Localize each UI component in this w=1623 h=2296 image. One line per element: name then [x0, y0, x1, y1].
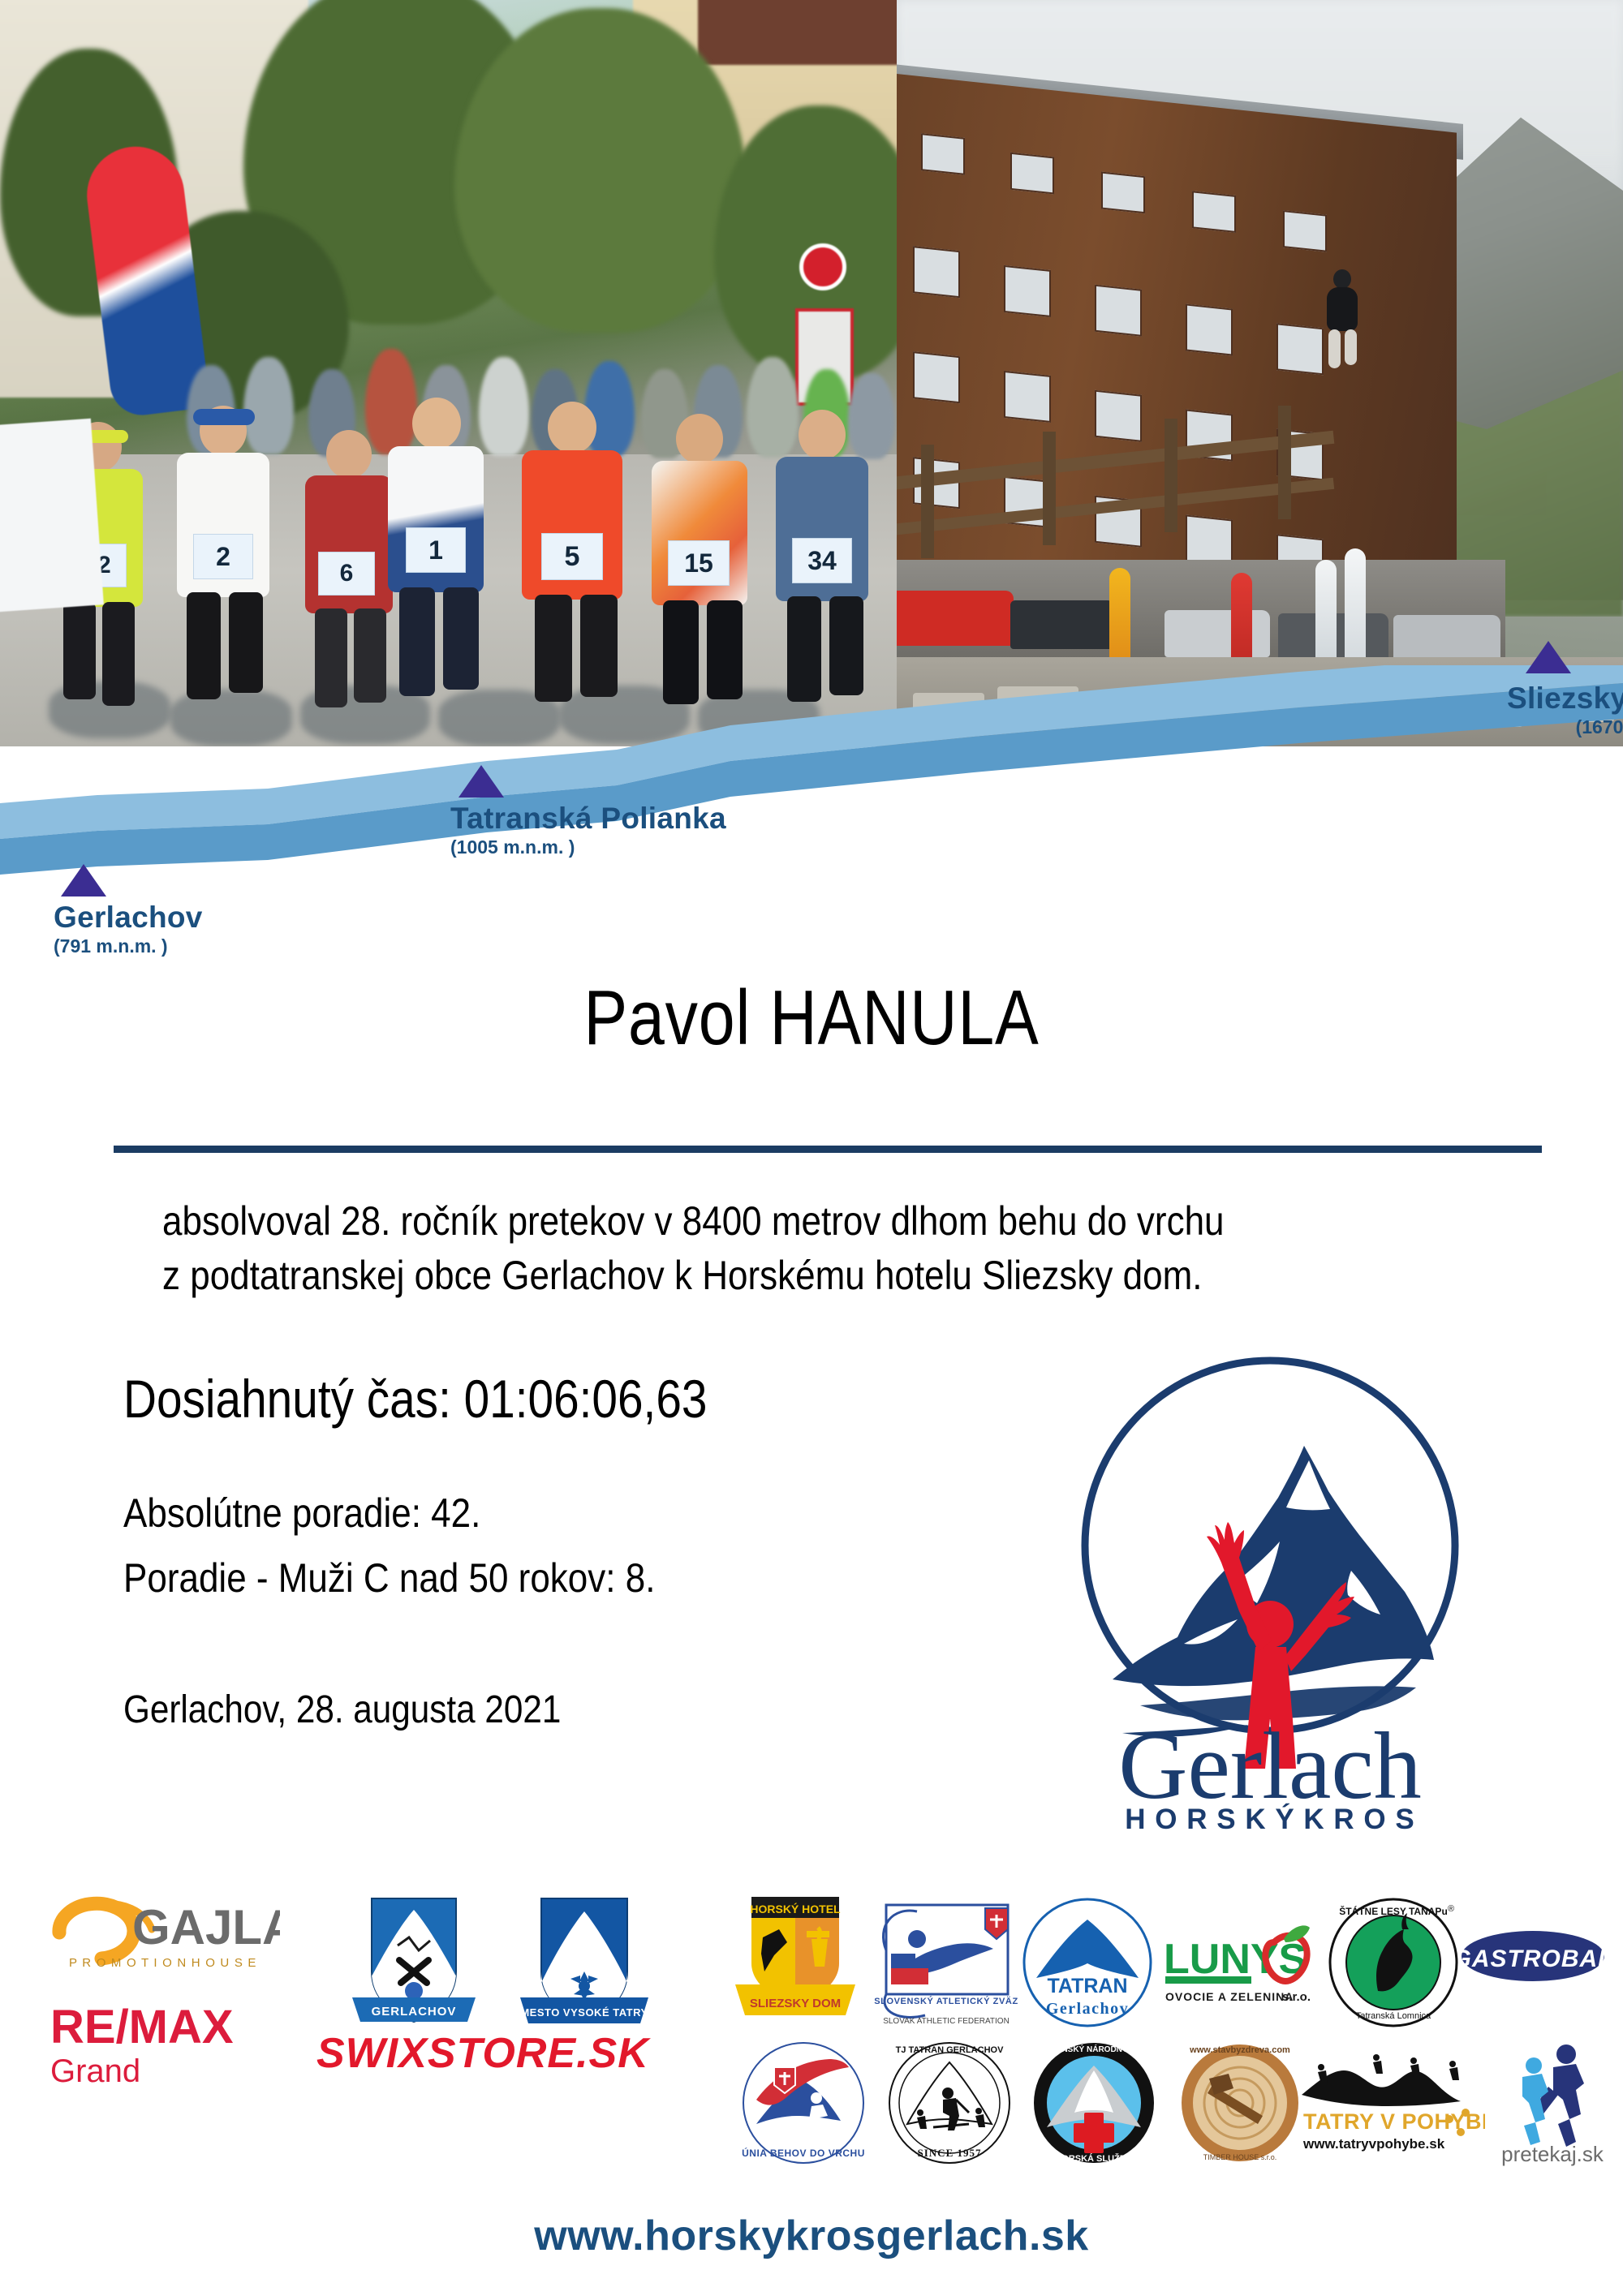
sponsor-lunys: LUNYS OVOCIE A ZELENINA s.r.o.: [1160, 1907, 1323, 2020]
bib-number: 34: [792, 538, 852, 583]
gajla-wordmark: GAJLA: [132, 1900, 280, 1954]
elev-label-tatranska-polianka: Tatranská Polianka (1005 m.n.m. ): [450, 803, 726, 858]
sponsor-swixstore: SWIXSTORE.SK: [316, 2022, 674, 2087]
registered-mark-icon: ®: [1448, 1904, 1454, 1914]
unia-runner-icon: [811, 2092, 822, 2104]
marker-triangle-gerlachov: [61, 864, 106, 896]
elevation-profile: Sliezsky dom (1670 m.n.m. ) Tatranská Po…: [0, 665, 1623, 974]
elev-name: Sliezsky dom: [1350, 683, 1623, 715]
category-rank: Poradie - Muži C nad 50 rokov: 8.: [123, 1554, 655, 1602]
hotel-label-bottom: SLIEZSKY DOM: [750, 1997, 841, 2010]
sponsor-gajla: GAJLA P R O M O T I O N H O U S E: [45, 1890, 280, 1980]
marker-triangle-sliezsky-dom: [1526, 641, 1571, 673]
result-time: Dosiahnutý čas: 01:06:06,63: [123, 1368, 707, 1430]
hs-label-top: TATRANSKÝ NÁRODNÝ PARK: [1035, 2044, 1153, 2054]
race-start-photo: 12 2 6 1: [0, 0, 897, 746]
sponsor-gastrobal: GASTROBAL: [1461, 1924, 1605, 1988]
jumper-head-icon: [908, 1930, 926, 1948]
pretekaj-wordmark: pretekaj.sk: [1501, 2142, 1604, 2166]
sponsor-tatry-v-pohybe: TATRY V POHYBE www.tatryvpohybe.sk: [1298, 2044, 1485, 2158]
runner-on-trail: [1319, 269, 1367, 375]
sponsor-remax: RE/MAX Grand: [50, 1997, 278, 2095]
stavbyzdreva-company: TIMBER HOUSE s.r.o.: [1203, 2153, 1277, 2161]
certificate-body: Pavol HANULA absolvoval 28. ročník prete…: [0, 974, 1623, 1063]
hs-label-bottom: HORSKÁ SLUŽBA: [1055, 2153, 1132, 2164]
elev-name: Tatranská Polianka: [450, 803, 726, 835]
saz-label-sk: SLOVENSKÝ ATLETICKÝ ZVÄZ: [874, 1996, 1018, 2006]
elev-altitude: (1670 m.n.m. ): [1350, 716, 1623, 739]
swixstore-wordmark: SWIXSTORE.SK: [316, 2030, 651, 2077]
crest-label: GERLACHOV: [372, 2005, 457, 2019]
sponsor-pd-tatran: TATRAN Gerlachov: [1018, 1894, 1156, 2032]
tvp-url: www.tatryvpohybe.sk: [1302, 2136, 1445, 2152]
description-line-2: z podtatranskej obce Gerlachov k Horském…: [162, 1249, 1333, 1303]
elev-label-sliezsky-dom: Sliezsky dom (1670 m.n.m. ): [1350, 683, 1623, 738]
sponsor-pretekaj: pretekaj.sk: [1492, 2038, 1613, 2168]
parked-car: [1393, 615, 1500, 660]
saz-blue-block: [891, 1954, 915, 1968]
marker-triangle-tatranska-polianka: [458, 765, 504, 798]
tanap-label-bottom: Tatranská Lomnica: [1356, 2011, 1431, 2021]
place-and-date: Gerlachov, 28. augusta 2021: [123, 1688, 561, 1732]
website-url[interactable]: www.horskykrosgerlach.sk: [0, 2212, 1623, 2260]
gerlach-event-logo: Gerlach H O R S K Ý K R O S: [1018, 1339, 1522, 1834]
tj-label-bottom: SINCE 1957: [918, 2147, 982, 2159]
elev-altitude: (1005 m.n.m. ): [450, 836, 726, 859]
emergency-vehicle: [897, 591, 1014, 646]
crest-label: MESTO VYSOKÉ TATRY: [520, 2006, 648, 2019]
sponsor-sliezsky-dom: HORSKÝ HOTEL SLIEZSKY DOM: [730, 1894, 860, 2032]
sponsor-tj-tatran-gerlachov: TJ TATRAN GERLACHOV SINCE 1957: [885, 2038, 1014, 2168]
lunys-subtext: OVOCIE A ZELENINA: [1165, 1990, 1294, 2003]
sponsor-horska-sluzba: TATRANSKÝ NÁRODNÝ PARK HORSKÁ SLUŽBA: [1029, 2038, 1159, 2168]
stavbyzdreva-url: www.stavbyzdreva.com: [1189, 2045, 1290, 2055]
gajla-swoosh-icon: [59, 1903, 134, 1958]
sponsor-stavbyzdreva: www.stavbyzdreva.com TIMBER HOUSE s.r.o.: [1175, 2038, 1305, 2168]
saz-label-en: SLOVAK ATHLETIC FEDERATION: [883, 2017, 1010, 2026]
elev-label-gerlachov: Gerlachov (791 m.n.m. ): [54, 902, 203, 957]
lunys-wordmark: LUNYS: [1164, 1936, 1307, 1983]
bib-number: 5: [541, 533, 603, 580]
saz-red-block: [891, 1968, 928, 1984]
bib-number: 2: [193, 534, 253, 579]
tatran-wordmark: TATRAN: [1047, 1975, 1127, 1997]
remax-subtext: Grand: [50, 2053, 140, 2089]
bib-number: 1: [406, 527, 466, 573]
sponsor-statne-lesy-tanapu: ŠTÁTNE LESY TANAPu Tatranská Lomnica ®: [1324, 1894, 1462, 2032]
gastrobal-wordmark: GASTROBAL: [1461, 1946, 1605, 1972]
hotel-label-top: HORSKÝ HOTEL: [750, 1902, 841, 1915]
sliezsky-dom-photo: [897, 0, 1623, 746]
tj-label-top: TJ TATRAN GERLACHOV: [896, 2045, 1004, 2055]
photo-banner: 12 2 6 1: [0, 0, 1623, 746]
parked-car: [1010, 600, 1116, 649]
sponsor-slovensky-atleticky-zvaz: SLOVENSKÝ ATLETICKÝ ZVÄZ SLOVAK ATHLETIC…: [868, 1894, 1022, 2032]
sponsor-gerlachov-crest: GERLACHOV: [341, 1892, 487, 2034]
unia-label: ÚNIA BEHOV DO VRCHU: [742, 2147, 865, 2159]
sponsor-unia-behov: ÚNIA BEHOV DO VRCHU: [738, 2038, 868, 2168]
elev-name: Gerlachov: [54, 902, 203, 934]
finish-banner: [0, 419, 104, 613]
description-line-1: absolvoval 28. ročník pretekov v 8400 me…: [162, 1194, 1333, 1249]
bib-number: 15: [668, 540, 730, 586]
elev-altitude: (791 m.n.m. ): [54, 935, 203, 958]
athlete-name: Pavol HANULA: [130, 974, 1493, 1063]
sponsor-vysoke-tatry-crest: MESTO VYSOKÉ TATRY: [507, 1892, 661, 2034]
lunys-sro: s.r.o.: [1282, 1990, 1311, 2004]
tatran-subtext: Gerlachov: [1046, 2000, 1129, 2018]
divider-rule: [114, 1146, 1542, 1153]
logo-tagline: H O R S K Ý K R O S: [1125, 1803, 1414, 1834]
crest-flower-icon: [405, 1982, 423, 2000]
parked-car: [1165, 610, 1270, 657]
description-text: absolvoval 28. ročník pretekov v 8400 me…: [162, 1194, 1333, 1303]
gajla-subtext: P R O M O T I O N H O U S E: [69, 1956, 257, 1970]
sponsor-logos: GAJLA P R O M O T I O N H O U S E RE/MAX…: [0, 1882, 1623, 2207]
tanap-label-top: ŠTÁTNE LESY TANAPu: [1339, 1905, 1448, 1917]
lunys-underline: [1165, 1976, 1251, 1984]
absolute-rank: Absolútne poradie: 42.: [123, 1490, 480, 1537]
remax-wordmark: RE/MAX: [50, 2001, 234, 2053]
